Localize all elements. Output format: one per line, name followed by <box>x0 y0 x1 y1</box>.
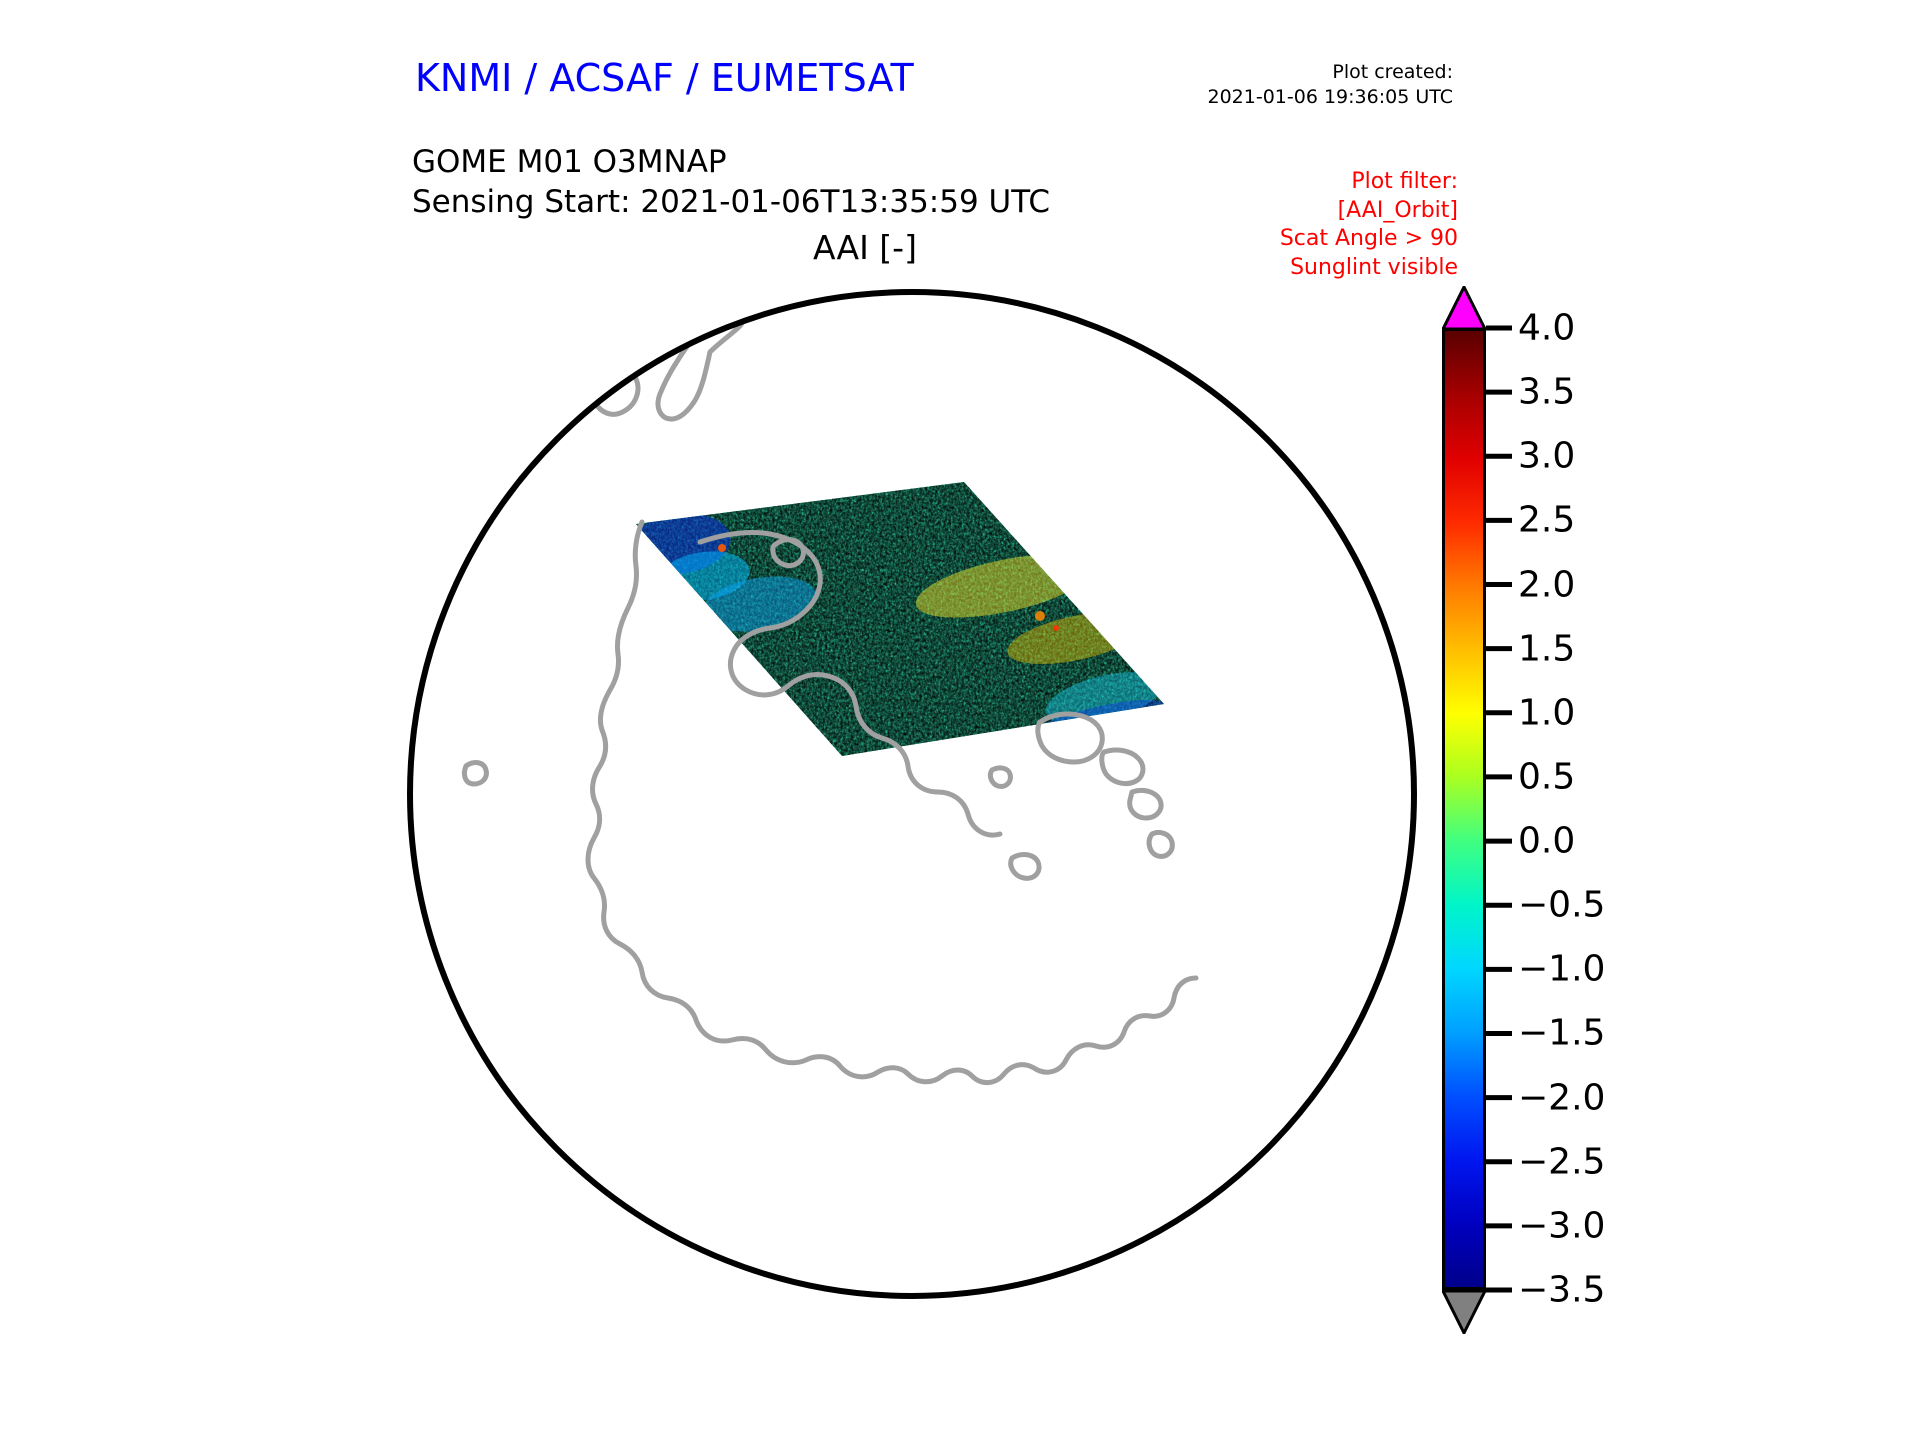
colorbar-tick-label: −2.5 <box>1518 1141 1605 1182</box>
plot-filter-title: Plot filter: <box>1280 168 1458 197</box>
colorbar-tick-label: 2.0 <box>1518 564 1575 605</box>
plot-created-block: Plot created: 2021-01-06 19:36:05 UTC <box>1208 60 1454 110</box>
colorbar-ticks <box>1442 286 1772 1302</box>
colorbar-gradient-bar[interactable] <box>1442 328 1486 1290</box>
globe-outline <box>410 292 1414 1296</box>
map-plot-area <box>404 286 1420 1302</box>
colorbar-tick-label: 4.0 <box>1518 308 1575 349</box>
colorbar-tick-label: 0.5 <box>1518 756 1575 797</box>
sensing-start: Sensing Start: 2021-01-06T13:35:59 UTC <box>412 182 1050 222</box>
colorbar-under-range-cap <box>1442 1290 1486 1334</box>
colorbar-gradient <box>1445 331 1483 1287</box>
colorbar-tick-label: 3.0 <box>1518 436 1575 477</box>
colorbar-tick-label: −1.5 <box>1518 1013 1605 1054</box>
plot-created-timestamp: 2021-01-06 19:36:05 UTC <box>1208 85 1454 110</box>
colorbar-tick-label: 3.5 <box>1518 372 1575 413</box>
colorbar-tick-label: −3.5 <box>1518 1270 1605 1311</box>
colorbar: 4.03.53.02.52.01.51.00.50.0−0.5−1.0−1.5−… <box>1442 286 1772 1302</box>
aai-swath-layer <box>604 456 1204 786</box>
colorbar-tick-label: −3.0 <box>1518 1205 1605 1246</box>
page-title: AAI [-] <box>0 228 1825 267</box>
colorbar-tick-label: 2.5 <box>1518 500 1575 541</box>
colorbar-tick-label: −2.0 <box>1518 1077 1605 1118</box>
map-svg <box>404 286 1420 1302</box>
product-info-block: GOME M01 O3MNAP Sensing Start: 2021-01-0… <box>412 142 1050 223</box>
colorbar-tick-label: −1.0 <box>1518 949 1605 990</box>
product-name: GOME M01 O3MNAP <box>412 142 1050 182</box>
colorbar-tick-label: 1.5 <box>1518 628 1575 669</box>
plot-filter-line-0: [AAI_Orbit] <box>1280 197 1458 226</box>
colorbar-tick-label: −0.5 <box>1518 885 1605 926</box>
plot-created-label: Plot created: <box>1208 60 1454 85</box>
colorbar-over-range-cap <box>1442 286 1486 330</box>
organisation-title: KNMI / ACSAF / EUMETSAT <box>415 56 914 100</box>
colorbar-tick-label: 0.0 <box>1518 821 1575 862</box>
colorbar-tick-label: 1.0 <box>1518 692 1575 733</box>
